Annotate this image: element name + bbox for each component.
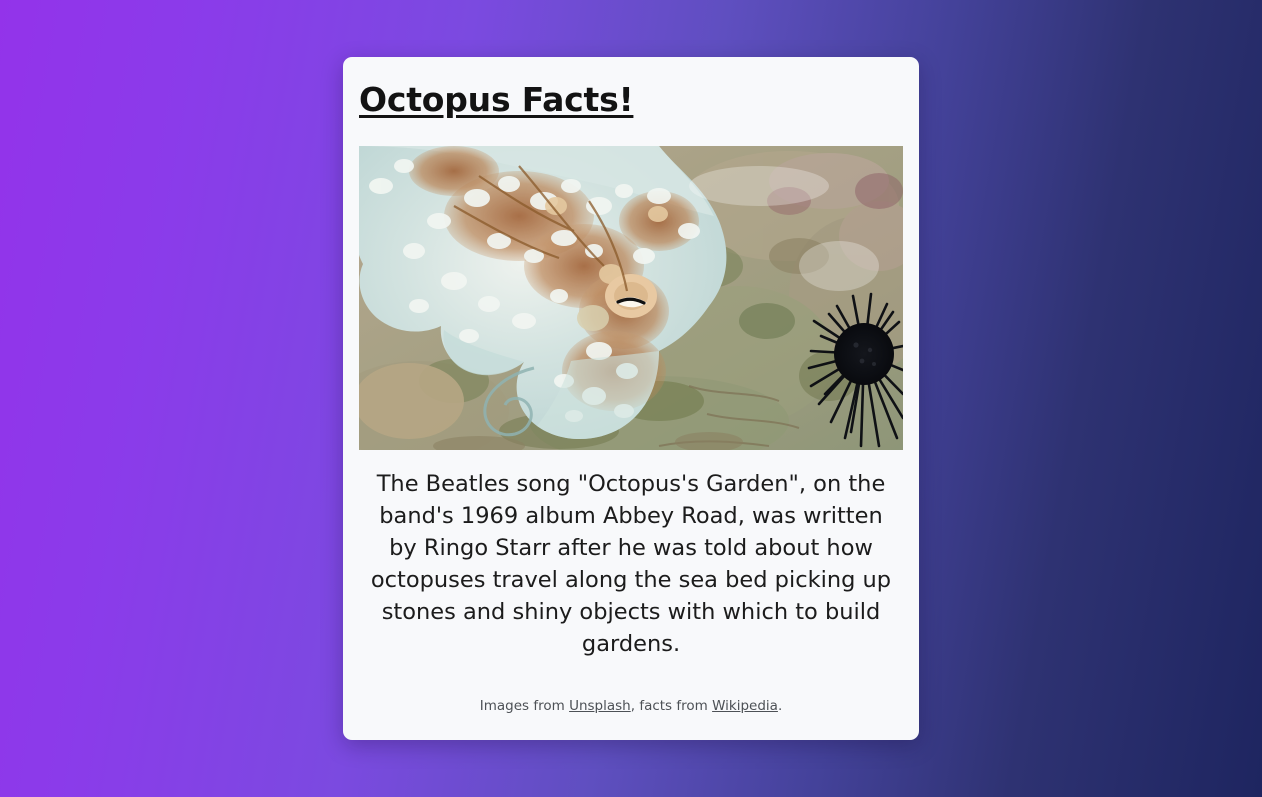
credits-suffix: . [778,698,782,714]
wikipedia-link[interactable]: Wikipedia [712,698,778,714]
octopus-photo [359,146,903,450]
octopus-photo-illustration [359,146,903,450]
credits-prefix: Images from [480,698,569,714]
page-background: Octopus Facts! [0,0,1262,797]
page-title: Octopus Facts! [359,79,903,120]
unsplash-link[interactable]: Unsplash [569,698,631,714]
credits-line: Images from Unsplash, facts from Wikiped… [359,696,903,716]
octopus-fact-text: The Beatles song "Octopus's Garden", on … [365,468,897,660]
octopus-fact-card: Octopus Facts! [343,57,919,740]
credits-middle: , facts from [631,698,712,714]
